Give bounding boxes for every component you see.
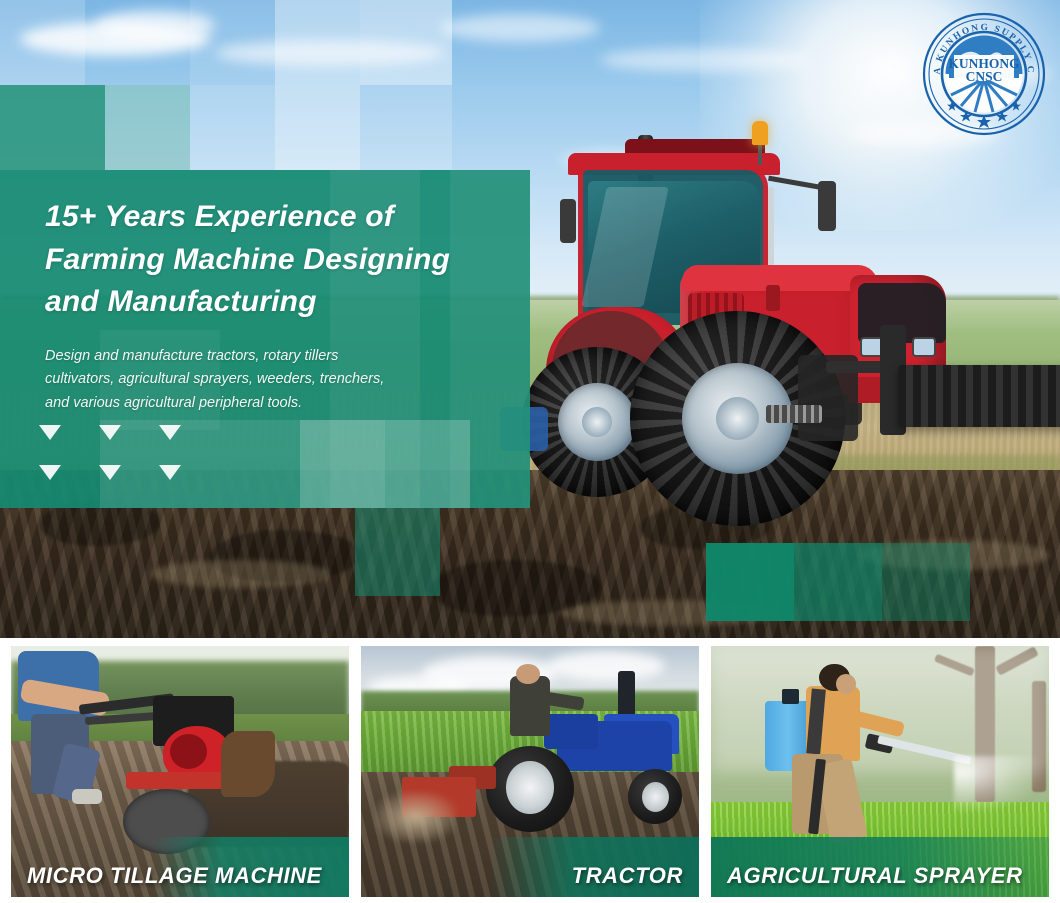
rear-wheel-rim [506, 761, 553, 814]
card-label-sprayer: AGRICULTURAL SPRAYER [711, 863, 1049, 889]
wheel-hub [582, 407, 612, 437]
headlamp [912, 337, 936, 357]
side-mirror [560, 199, 576, 243]
overlay-block [355, 508, 440, 596]
tiller-blade [221, 731, 275, 796]
product-card-sprayer[interactable]: AGRICULTURAL SPRAYER [711, 646, 1049, 897]
tiller-pulley [170, 734, 207, 769]
product-banner: 15+ Years Experience of Farming Machine … [0, 0, 1060, 903]
front-wheel-rim [642, 782, 669, 812]
mosaic-square [360, 0, 452, 85]
overlay-block [882, 543, 970, 621]
warning-beacon [752, 121, 768, 145]
overlay-block [300, 420, 385, 508]
operator-face [836, 674, 856, 694]
chevron-down-icon [99, 465, 121, 480]
soil-dust [375, 792, 456, 842]
card-label-tractor: TRACTOR [361, 863, 699, 889]
company-logo[interactable]: KUNHONG CNSC CHINA KUNHONG SUPPLY CHAIN [921, 11, 1047, 137]
sprayer-tank-cap [782, 689, 799, 704]
mosaic-square [275, 0, 360, 170]
cloud [440, 14, 600, 42]
mosaic-square [0, 0, 85, 85]
tractor-image [530, 125, 1060, 515]
subcopy-line-3: and various agricultural peripheral tool… [45, 392, 465, 415]
hood-vent [766, 285, 780, 311]
headline-line-2: Farming Machine Designing [45, 239, 515, 282]
beacon-pole [758, 143, 762, 165]
product-card-row: MICRO TILLAGE MACHINE TR [0, 646, 1060, 903]
overlay-block [706, 543, 794, 621]
mosaic-square [190, 0, 275, 85]
headline-line-3: and Manufacturing [45, 281, 515, 324]
tractor-seat-block [544, 714, 598, 749]
product-card-micro-tillage[interactable]: MICRO TILLAGE MACHINE [11, 646, 349, 897]
page-title: 15+ Years Experience of Farming Machine … [45, 196, 515, 324]
wheel-hub [716, 397, 759, 440]
product-card-tractor[interactable]: TRACTOR [361, 646, 699, 897]
side-mirror [818, 181, 836, 231]
headline-line-1: 15+ Years Experience of [45, 196, 515, 239]
chevron-down-icon [39, 465, 61, 480]
tiller-deck [126, 772, 234, 790]
mosaic-square-teal [105, 85, 190, 170]
chevron-down-icon [159, 465, 181, 480]
front-implement [898, 365, 1060, 427]
soil-highlight [150, 560, 330, 588]
mosaic-square-teal [0, 85, 105, 170]
chevron-down-icon [99, 425, 121, 440]
arrow-decoration-grid [33, 425, 193, 505]
mist-overlay [711, 646, 1049, 772]
overlay-block [794, 543, 882, 621]
overlay-block [385, 420, 470, 508]
mosaic-square [360, 85, 452, 170]
chevron-down-icon [159, 425, 181, 440]
operator-head [516, 664, 540, 684]
operator-shoe [72, 789, 102, 804]
chevron-down-icon [39, 425, 61, 440]
spray-mist [954, 756, 1042, 811]
subcopy-line-1: Design and manufacture tractors, rotary … [45, 345, 465, 368]
card-label-micro-tillage: MICRO TILLAGE MACHINE [11, 863, 349, 889]
hero-subcopy: Design and manufacture tractors, rotary … [45, 345, 465, 415]
cloud [547, 651, 665, 681]
logo-line2-text: CNSC [966, 69, 1003, 84]
hero-section: 15+ Years Experience of Farming Machine … [0, 0, 1060, 638]
subcopy-line-2: cultivators, agricultural sprayers, weed… [45, 368, 465, 391]
operator-body [510, 676, 551, 736]
cab-step [766, 405, 822, 423]
hood-top [682, 265, 878, 291]
mosaic-square [190, 85, 275, 170]
